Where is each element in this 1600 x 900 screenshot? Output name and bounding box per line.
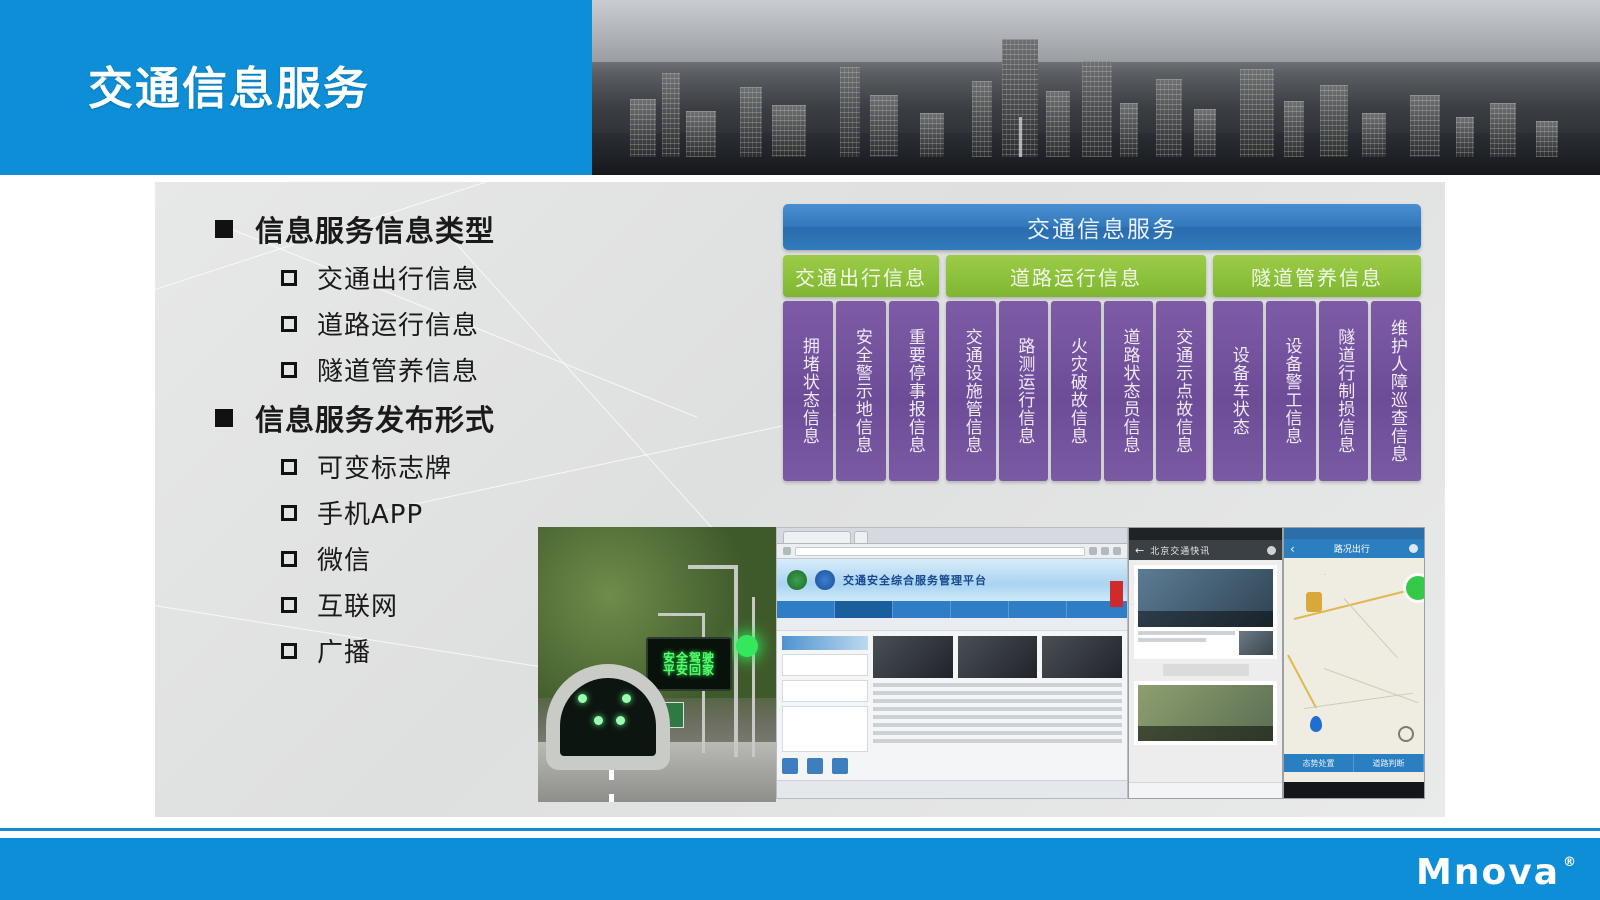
site-banner: 交通安全综合服务管理平台 <box>777 559 1127 601</box>
star-icon[interactable] <box>1089 547 1097 555</box>
bullet-text: 互联网 <box>317 586 398 623</box>
article-image <box>1138 685 1273 741</box>
brand-logo: Mnova ® <box>1416 852 1578 893</box>
light-pole <box>734 567 738 757</box>
bullet-level1: 信息服务信息类型 <box>215 208 635 250</box>
nav-item[interactable] <box>893 601 951 618</box>
bullet-level2: 可变标志牌 <box>281 448 635 485</box>
footer-bar <box>0 838 1600 900</box>
map-pin-icon[interactable] <box>1310 716 1322 732</box>
tab-item[interactable] <box>1231 783 1282 798</box>
light-pole <box>752 597 755 757</box>
timestamp-chip <box>1163 664 1249 676</box>
bullet-text: 隧道管养信息 <box>317 351 479 388</box>
article-thumb <box>1239 631 1273 655</box>
hollow-square-bullet-icon <box>281 362 297 378</box>
diagram-column: 设备车状态 <box>1213 301 1263 481</box>
browser-address-bar[interactable] <box>777 544 1127 559</box>
bullet-level2: 道路运行信息 <box>281 305 635 342</box>
news-line <box>873 707 1122 711</box>
building <box>1194 109 1216 157</box>
diagram-column: 路测运行信息 <box>999 301 1049 481</box>
column-label: 交通设施管信息 <box>962 328 980 454</box>
group-columns: 交通设施管信息 路测运行信息 火灾破故信息 道路状态员信息 交通示点故信息 <box>946 301 1206 481</box>
header-underline <box>0 175 1600 182</box>
new-tab-button[interactable] <box>854 531 868 543</box>
building <box>1362 113 1386 157</box>
building <box>1490 103 1516 157</box>
quick-icons[interactable] <box>782 758 868 774</box>
traffic-police-website: 交通安全综合服务管理平台 <box>776 527 1128 799</box>
group-columns: 拥堵状态信息 安全警示地信息 重要停事报信息 <box>783 301 939 481</box>
tunnel-lamp-icon <box>578 694 587 703</box>
tunnel-lamp-icon <box>622 694 631 703</box>
bullet-text: 交通出行信息 <box>317 259 479 296</box>
tab-item[interactable] <box>1129 783 1180 798</box>
tunnel-lamp-icon <box>616 716 625 725</box>
bullet-level2: 手机APP <box>281 494 635 531</box>
nav-back-icon[interactable] <box>1284 782 1331 798</box>
nav-recents-icon[interactable] <box>1377 782 1424 798</box>
building <box>1082 61 1112 157</box>
news-line <box>873 715 1122 719</box>
article-card[interactable] <box>1134 681 1277 745</box>
article-caption <box>1138 611 1273 627</box>
logo-text: Mnova <box>1416 852 1560 893</box>
diagram-column: 交通设施管信息 <box>946 301 996 481</box>
zoom-icon[interactable] <box>1398 726 1414 742</box>
green-signal-icon <box>736 635 758 657</box>
building <box>740 87 762 157</box>
diagram-column: 维护人障巡查信息 <box>1371 301 1421 481</box>
news-thumb[interactable] <box>1042 636 1122 678</box>
nav-item[interactable] <box>777 601 835 618</box>
hollow-square-bullet-icon <box>281 643 297 659</box>
back-icon[interactable] <box>783 547 791 555</box>
variable-message-sign: 安全驾驶 平安回家 <box>646 637 732 691</box>
building <box>972 81 992 157</box>
nav-item[interactable] <box>951 601 1009 618</box>
bullet-level1: 信息服务发布形式 <box>215 397 635 439</box>
map-title: 路况出行 <box>1300 542 1404 555</box>
building <box>1284 101 1304 157</box>
hollow-square-bullet-icon <box>281 270 297 286</box>
gallery-strip: 安全驾驶 平安回家 <box>538 527 1425 805</box>
building <box>772 105 806 157</box>
column-label: 重要停事报信息 <box>905 328 923 454</box>
building <box>1120 103 1138 157</box>
article-row[interactable] <box>1138 631 1273 655</box>
diagram-group: 隧道管养信息 设备车状态 设备警工信息 隧道行制损信息 维护人障巡查信息 <box>1213 255 1421 481</box>
nav-item[interactable] <box>1009 601 1067 618</box>
diagram-column: 安全警示地信息 <box>836 301 886 481</box>
breadcrumb <box>777 618 1127 631</box>
site-footer <box>777 780 1127 798</box>
wechat-title: 北京交通快讯 <box>1150 544 1261 557</box>
diagram-column: 隧道行制损信息 <box>1319 301 1369 481</box>
news-line <box>873 723 1122 727</box>
news-line <box>873 683 1122 687</box>
nav-home-icon[interactable] <box>1331 782 1378 798</box>
light-arm <box>658 613 704 616</box>
diagram-column: 火灾破故信息 <box>1051 301 1101 481</box>
map-road <box>1287 655 1317 709</box>
bullet-text: 信息服务信息类型 <box>255 208 495 250</box>
map-app: ‹ 路况出行 · 态势处置 <box>1283 527 1425 799</box>
bullet-text: 微信 <box>317 540 371 577</box>
building <box>630 99 656 157</box>
sidebar-card[interactable] <box>782 680 868 702</box>
wechat-bottom-tabs[interactable] <box>1129 782 1282 798</box>
column-label: 拥堵状态信息 <box>799 337 817 445</box>
site-body <box>777 631 1127 779</box>
building <box>1456 117 1474 157</box>
footer-rule <box>0 828 1600 831</box>
extension-icon[interactable] <box>1101 547 1109 555</box>
column-label: 安全警示地信息 <box>852 328 870 454</box>
diagram-group: 道路运行信息 交通设施管信息 路测运行信息 火灾破故信息 道路状态员信息 <box>946 255 1206 481</box>
building <box>1240 69 1274 157</box>
browser-tab[interactable] <box>783 531 851 543</box>
building <box>662 73 680 157</box>
group-header: 交通出行信息 <box>783 255 939 297</box>
group-columns: 设备车状态 设备警工信息 隧道行制损信息 维护人障巡查信息 <box>1213 301 1421 481</box>
map-label: · <box>1324 572 1326 578</box>
ministry-emblem-icon <box>815 570 835 590</box>
tunnel-lamp-icon <box>594 716 603 725</box>
bullet-text: 广播 <box>317 632 371 669</box>
map-action-left[interactable]: 态势处置 <box>1284 754 1354 772</box>
back-icon[interactable]: ← <box>1135 544 1144 557</box>
column-label: 设备警工信息 <box>1282 337 1300 445</box>
article-card[interactable] <box>1134 565 1277 659</box>
diagram-group: 交通出行信息 拥堵状态信息 安全警示地信息 重要停事报信息 <box>783 255 939 481</box>
account-icon[interactable] <box>1409 544 1418 553</box>
phone-status-bar <box>1284 528 1424 539</box>
diagram-groups: 交通出行信息 拥堵状态信息 安全警示地信息 重要停事报信息 <box>783 255 1421 481</box>
page-title: 交通信息服务 <box>88 52 370 117</box>
bullet-text: 可变标志牌 <box>317 448 452 485</box>
hollow-square-bullet-icon <box>281 459 297 475</box>
news-thumb[interactable] <box>873 636 953 678</box>
contact-icon[interactable] <box>1267 546 1276 555</box>
url-input[interactable] <box>795 547 1085 556</box>
nav-item-active[interactable] <box>835 601 893 618</box>
bullet-level2: 隧道管养信息 <box>281 351 635 388</box>
light-arm <box>688 565 738 569</box>
hollow-square-bullet-icon <box>281 597 297 613</box>
sidebar-card[interactable] <box>782 706 868 752</box>
article-image <box>1138 569 1273 627</box>
filled-square-bullet-icon <box>215 220 233 238</box>
spire <box>1019 117 1022 157</box>
browser-tab-strip[interactable] <box>777 528 1127 544</box>
vms-line2: 平安回家 <box>663 664 715 676</box>
diagram-column: 设备警工信息 <box>1266 301 1316 481</box>
sidebar-card[interactable] <box>782 654 868 676</box>
column-label: 火灾破故信息 <box>1067 337 1085 445</box>
map-action-right[interactable]: 道路判断 <box>1354 754 1424 772</box>
registered-mark: ® <box>1563 856 1578 869</box>
tab-item[interactable] <box>1180 783 1231 798</box>
article-caption <box>1138 726 1273 741</box>
news-thumb[interactable] <box>958 636 1038 678</box>
status-dot-icon <box>1406 576 1424 600</box>
hollow-square-bullet-icon <box>281 316 297 332</box>
filled-square-bullet-icon <box>215 409 233 427</box>
doc-icon[interactable] <box>782 758 798 774</box>
map-landmark-icon <box>1306 592 1322 612</box>
text-line <box>1138 631 1235 635</box>
news-line <box>873 731 1122 735</box>
news-line <box>873 699 1122 703</box>
diagram-column: 交通示点故信息 <box>1156 301 1206 481</box>
phone-status-bar <box>1129 528 1282 540</box>
header-skyline-photo <box>590 0 1600 175</box>
android-nav-bar[interactable] <box>1284 782 1424 798</box>
building <box>686 111 716 157</box>
group-header: 道路运行信息 <box>946 255 1206 297</box>
news-thumbnails[interactable] <box>873 636 1122 678</box>
diagram: 交通信息服务 交通出行信息 拥堵状态信息 安全警示地信息 重要停事报信息 <box>783 204 1421 481</box>
title-block: 交通信息服务 <box>0 0 592 175</box>
column-label: 隧道行制损信息 <box>1334 328 1352 454</box>
map-road <box>1304 693 1413 709</box>
notice-banner <box>1110 581 1123 607</box>
article-text <box>1138 631 1235 655</box>
car-icon[interactable] <box>832 758 848 774</box>
diagram-title: 交通信息服务 <box>783 204 1421 250</box>
column-label: 设备车状态 <box>1229 346 1247 436</box>
sidebar <box>782 636 868 774</box>
building <box>1046 91 1070 157</box>
site-nav[interactable] <box>777 601 1127 618</box>
building <box>1156 79 1182 157</box>
sidebar-header <box>782 636 868 650</box>
bullet-text: 信息服务发布形式 <box>255 397 495 439</box>
back-icon[interactable]: ‹ <box>1290 542 1295 556</box>
column-label: 交通示点故信息 <box>1172 328 1190 454</box>
building <box>840 67 860 157</box>
text-line <box>1138 638 1206 642</box>
building <box>870 95 898 157</box>
hollow-square-bullet-icon <box>281 505 297 521</box>
police-emblem-icon <box>787 570 807 590</box>
news-line <box>873 739 1122 743</box>
hollow-square-bullet-icon <box>281 551 297 567</box>
main-column <box>873 636 1122 774</box>
news-list <box>873 683 1122 743</box>
diagram-column: 道路状态员信息 <box>1104 301 1154 481</box>
news-line <box>873 691 1122 695</box>
building <box>1536 121 1558 157</box>
user-icon[interactable] <box>807 758 823 774</box>
group-header: 隧道管养信息 <box>1213 255 1421 297</box>
column-label: 路测运行信息 <box>1014 337 1032 445</box>
bullet-text: 手机APP <box>317 494 423 531</box>
map-road <box>1344 598 1398 658</box>
map-top-bar: ‹ 路况出行 <box>1284 539 1424 558</box>
map-canvas[interactable]: · <box>1284 558 1424 754</box>
wechat-top-bar: ← 北京交通快讯 <box>1129 540 1282 560</box>
bullet-level2: 交通出行信息 <box>281 259 635 296</box>
wechat-article-feed: ← 北京交通快讯 <box>1128 527 1283 799</box>
building <box>920 113 944 157</box>
column-label: 道路状态员信息 <box>1120 328 1138 454</box>
map-action-bar[interactable]: 态势处置 道路判断 <box>1284 754 1424 772</box>
sky-haze <box>590 0 1600 62</box>
slide: 交通信息服务 信息服务信息类型 交通出行信息 道路运行信息 隧道 <box>0 0 1600 900</box>
building <box>1320 85 1348 157</box>
building-tall <box>1002 39 1038 157</box>
site-name: 交通安全综合服务管理平台 <box>843 572 987 588</box>
tunnel-vms-photo: 安全驾驶 平安回家 <box>538 527 776 802</box>
diagram-column: 拥堵状态信息 <box>783 301 833 481</box>
content-canvas: 信息服务信息类型 交通出行信息 道路运行信息 隧道管养信息 信息服务发布形式 可… <box>155 182 1445 817</box>
building <box>1410 95 1440 157</box>
diagram-column: 重要停事报信息 <box>889 301 939 481</box>
column-label: 维护人障巡查信息 <box>1387 319 1405 463</box>
menu-icon[interactable] <box>1113 547 1121 555</box>
bullet-text: 道路运行信息 <box>317 305 479 342</box>
